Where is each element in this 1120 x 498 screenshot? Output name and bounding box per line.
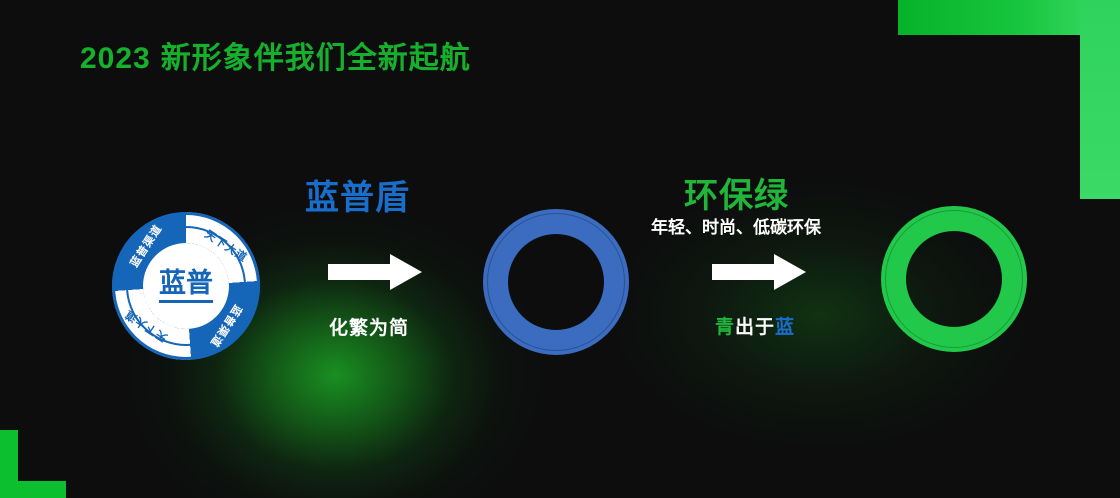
green-ring-shape	[881, 206, 1027, 352]
step2-caption-part-1: 青	[715, 317, 735, 338]
step1-caption: 化繁为简	[329, 313, 409, 340]
step2-heading: 环保绿	[684, 168, 789, 217]
title-text: 新形象伴我们全新起航	[161, 42, 471, 75]
logo-brand-name: 蓝普	[159, 270, 213, 303]
page-title: 2023新形象伴我们全新起航	[80, 33, 471, 77]
step2-caption-part-3: 蓝	[775, 317, 795, 338]
blue-ring-shape	[483, 209, 629, 355]
bottom-left-corner-horizontal-bar	[0, 481, 66, 498]
step2-caption-part-2: 出于	[735, 317, 775, 338]
top-right-corner-vertical-bar	[1080, 0, 1120, 199]
company-logo: 蓝普渠道 天下大道 蓝普渠道 天下大道 蓝普	[112, 212, 260, 360]
step2-caption: 青出于蓝	[715, 312, 795, 339]
slide-canvas: 2023新形象伴我们全新起航 蓝普渠道 天下大道 蓝普渠道 天下大道 蓝普 蓝普…	[0, 0, 1120, 498]
title-year: 2023	[80, 42, 151, 75]
step2-subtitle: 年轻、时尚、低碳环保	[651, 213, 821, 238]
arrow-right-icon	[328, 254, 422, 290]
step1-heading: 蓝普盾	[305, 170, 410, 219]
arrow-right-icon	[712, 254, 806, 290]
logo-inner-disc: 蓝普	[143, 243, 229, 329]
